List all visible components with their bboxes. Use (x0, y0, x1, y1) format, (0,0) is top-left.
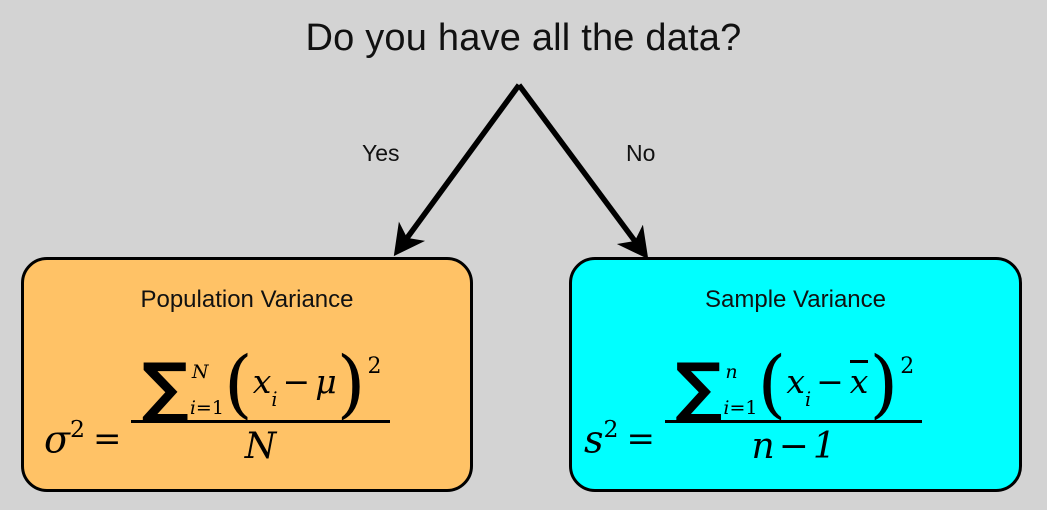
population-denominator-main: N (245, 426, 277, 467)
sample-summation: ∑ n i=1 (675, 356, 757, 418)
population-variance-formula: σ2 = ∑ N i=1 ( xi−μ ) 2 (44, 356, 390, 467)
branch-label-yes: Yes (362, 140, 400, 167)
s-symbol: s (584, 418, 604, 462)
population-open-paren: ( (224, 358, 253, 411)
population-variable: x (253, 362, 272, 401)
sample-variable-subscript: i (805, 388, 811, 411)
population-variance-box[interactable]: Population Variance σ2 = ∑ N i=1 ( xi−μ … (21, 257, 473, 492)
population-fraction: ∑ N i=1 ( xi−μ ) 2 N (131, 356, 389, 467)
sample-equals-sign: = (619, 419, 666, 459)
arrow-no (519, 85, 643, 252)
sample-numerator: ∑ n i=1 ( xi−x ) 2 (665, 356, 922, 420)
sample-denominator-op: − (775, 426, 813, 467)
population-denominator: N (245, 423, 277, 467)
population-sum-lower-equals: = (196, 397, 212, 419)
summation-icon: ∑ (675, 360, 722, 417)
population-variable-subscript: i (271, 388, 277, 411)
arrow-yes (399, 85, 519, 249)
population-mean-symbol: μ (315, 362, 336, 401)
summation-icon: ∑ (141, 360, 188, 417)
branch-label-no: No (626, 140, 655, 167)
sample-lhs: s2 (584, 420, 619, 459)
sample-denominator-main: n (751, 426, 774, 467)
population-sum-upper: N (190, 363, 224, 383)
sample-sum-upper: n (723, 363, 757, 383)
sample-mean-symbol: x (849, 362, 870, 401)
sigma-exponent: 2 (70, 415, 85, 443)
sigma-symbol: σ (44, 418, 70, 462)
sample-variable: x (786, 362, 805, 401)
sample-open-paren: ( (757, 358, 786, 411)
sample-sum-limits: n i=1 (723, 356, 757, 418)
population-numerator: ∑ N i=1 ( xi−μ ) 2 (131, 356, 389, 420)
population-variance-title: Population Variance (24, 286, 470, 314)
sample-variance-title: Sample Variance (572, 286, 1019, 314)
population-sum-lower: i=1 (190, 399, 224, 419)
population-exponent: 2 (368, 354, 382, 379)
sample-sum-lower-equals: = (729, 397, 745, 419)
population-sum-limits: N i=1 (190, 356, 224, 418)
sample-variance-formula: s2 = ∑ n i=1 ( xi−x ) 2 (584, 356, 922, 467)
sample-minus: − (811, 362, 849, 401)
sample-denominator: n−1 (751, 423, 835, 467)
sample-fraction: ∑ n i=1 ( xi−x ) 2 n−1 (665, 356, 922, 467)
population-close-paren: ) (337, 358, 366, 411)
population-term: xi−μ (253, 362, 337, 406)
s-exponent: 2 (604, 415, 619, 443)
sample-denominator-tail: 1 (813, 426, 836, 467)
population-equals-sign: = (85, 419, 132, 459)
sample-exponent: 2 (900, 354, 914, 379)
population-lhs: σ2 (44, 420, 85, 459)
population-summation: ∑ N i=1 (141, 356, 223, 418)
page-title: Do you have all the data? (0, 18, 1047, 60)
flowchart-canvas: Do you have all the data? Yes No Populat… (0, 0, 1047, 510)
sample-term: xi−x (786, 362, 869, 406)
population-minus: − (278, 362, 316, 401)
sample-variance-box[interactable]: Sample Variance s2 = ∑ n i=1 ( xi−x ) (569, 257, 1022, 492)
sample-sum-lower: i=1 (723, 399, 757, 419)
sample-close-paren: ) (869, 358, 898, 411)
population-sum-start: 1 (212, 397, 224, 419)
sample-sum-start: 1 (745, 397, 757, 419)
